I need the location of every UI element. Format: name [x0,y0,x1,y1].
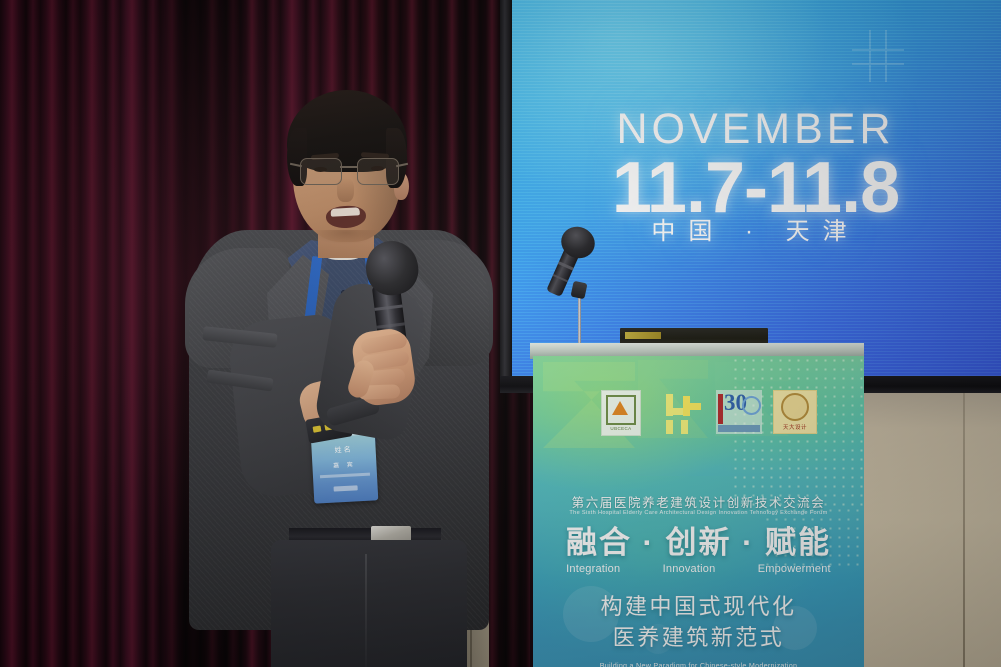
podium-mic-stand [578,292,581,346]
podium-banner: UBCECA 30 天大设计 第六届医院养老建筑设计创新技术交流会 The Si… [533,356,864,667]
podium-logo-row: UBCECA 30 天大设计 [533,390,864,446]
event-title-en: The Sixth Hospital Elderly Care Architec… [533,510,864,516]
event-subtitle-cn-line2: 医养建筑新范式 [533,622,864,653]
speaker-trousers [271,540,467,667]
event-slogan-en: Integration Innovation Empowerment [533,563,864,575]
ubceca-logo: UBCECA [601,390,641,436]
led-screen-content: NOVEMBER 11.7-11.8 中国 · 天津 [510,0,1001,378]
event-slogan-cn: 融合 · 创新 · 赋能 [533,526,864,560]
speaker-nose [337,178,354,202]
event-subtitle-cn-line1: 构建中国式现代化 [533,591,864,622]
event-subtitle-cn: 构建中国式现代化 医养建筑新范式 [533,591,864,653]
wall-seam-right [963,383,965,667]
slogan-word-empowerment: Empowerment [758,563,831,575]
conference-photo-scene: NOVEMBER 11.7-11.8 中国 · 天津 UBCECA [0,0,1001,667]
event-subtitle-en-line1: Building a New Paradigm for Chinese-styl… [533,661,864,667]
tianda-design-logo: 天大设计 [773,390,817,434]
hospital-plus-logo [661,390,705,436]
led-dates-label: 11.7-11.8 [510,152,1001,224]
anniversary-30-logo: 30 [716,390,762,434]
wall-panel-right [855,383,1001,667]
speaker-figure: 姓名 嘉 宾 [175,80,505,667]
event-title-cn: 第六届医院养老建筑设计创新技术交流会 [533,492,864,511]
led-month-label: NOVEMBER [510,108,1001,151]
event-subtitle-en: Building a New Paradigm for Chinese-styl… [533,661,864,667]
slogan-word-integration: Integration [566,563,620,575]
badge-role-line: 嘉 宾 [312,458,376,470]
badge-name-line: 姓名 [311,443,375,456]
slogan-word-innovation: Innovation [663,563,716,575]
